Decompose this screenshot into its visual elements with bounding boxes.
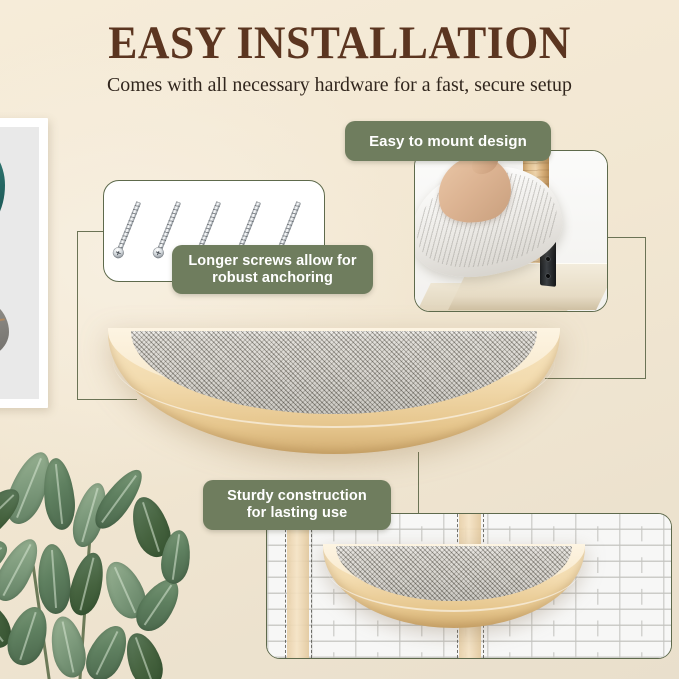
wall-stud	[287, 514, 309, 658]
badge-mount-label: Easy to mount design	[369, 133, 527, 150]
wall-art-canvas	[0, 127, 39, 399]
connector-mount-elbow-top	[606, 237, 646, 238]
page-title: EASY INSTALLATION	[24, 0, 655, 68]
connector-screws-vertical	[77, 232, 78, 400]
plant-leaf	[65, 549, 110, 618]
mounting-photo-panel	[414, 150, 608, 312]
plant-leaf	[119, 628, 168, 679]
connector-mount-elbow-bottom	[545, 378, 646, 379]
connector-mount-vertical	[645, 237, 646, 379]
stud-guide-line	[311, 514, 312, 658]
badge-screws-text: Longer screws allow for robust anchoring	[188, 253, 356, 287]
connector-hero-to-brick	[418, 452, 419, 514]
plant-leaf	[40, 457, 77, 532]
curved-wall-hammock	[108, 328, 560, 454]
screw-item	[109, 194, 147, 267]
framed-wall-art	[0, 118, 48, 408]
plant-leaf	[36, 543, 73, 615]
badge-screws-line1: Longer screws allow for	[188, 253, 356, 269]
gray-leaf-shape	[0, 295, 9, 361]
badge-screws-line2: robust anchoring	[212, 270, 333, 286]
infographic-canvas: EASY INSTALLATION Comes with all necessa…	[0, 0, 679, 679]
badge-longer-screws[interactable]: Longer screws allow for robust anchoring	[172, 245, 373, 294]
header: EASY INSTALLATION Comes with all necessa…	[0, 0, 679, 97]
page-subtitle: Comes with all necessary hardware for a …	[10, 68, 669, 97]
badge-sturdy-line2: for lasting use	[247, 505, 348, 521]
stud-guide-line	[285, 514, 286, 658]
badge-easy-to-mount[interactable]: Easy to mount design	[345, 121, 551, 161]
badge-sturdy-line1: Sturdy construction	[227, 488, 367, 504]
mounted-hammock	[323, 544, 585, 628]
foliage-plant	[0, 440, 216, 679]
badge-sturdy-construction[interactable]: Sturdy construction for lasting use	[203, 480, 391, 530]
brick-wall-panel	[266, 513, 672, 659]
badge-sturdy-text: Sturdy construction for lasting use	[227, 488, 367, 522]
teal-leaf-shape	[0, 143, 5, 231]
connector-screws-elbow-top	[77, 231, 105, 232]
